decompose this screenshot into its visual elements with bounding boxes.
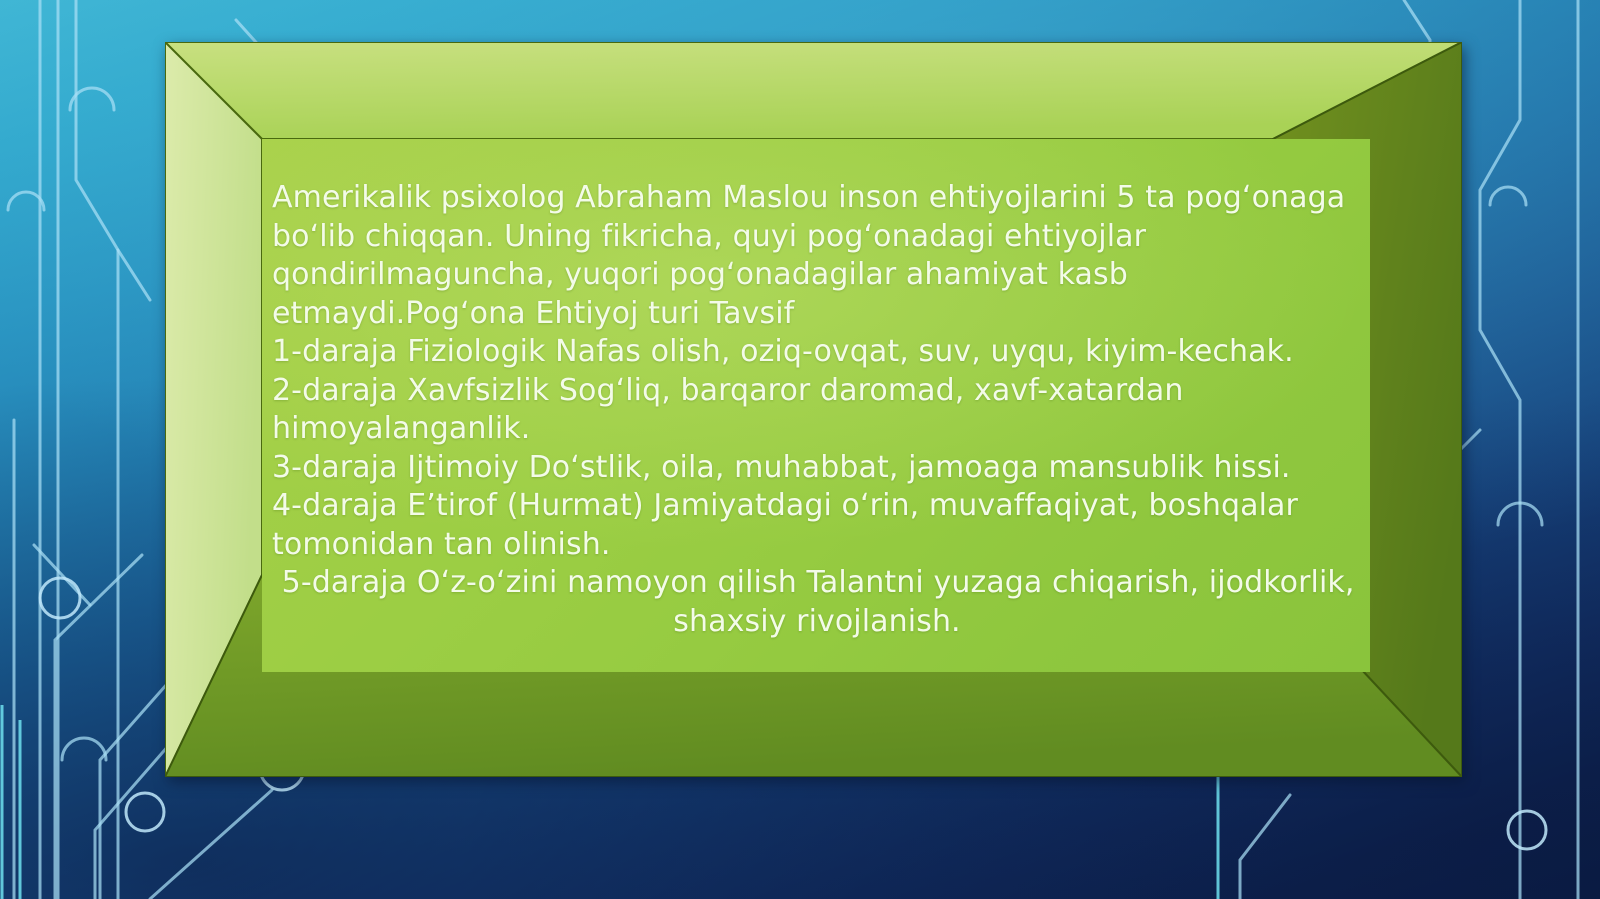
text-line-level-5: 5-daraja O‘z-o‘zini namoyon qilish Talan…	[272, 564, 1362, 603]
body-paragraph: Amerikalik psixolog Abraham Maslou inson…	[272, 179, 1362, 641]
text-line-level-3: 3-daraja Ijtimoiy Do‘stlik, oila, muhabb…	[272, 449, 1362, 488]
content-panel: Amerikalik psixolog Abraham Maslou inson…	[262, 139, 1370, 672]
text-line: Amerikalik psixolog Abraham Maslou inson…	[272, 179, 1362, 218]
slide-canvas: Amerikalik psixolog Abraham Maslou inson…	[0, 0, 1600, 899]
text-line-level-4: 4-daraja E’tirof (Hurmat) Jamiyatdagi o‘…	[272, 487, 1362, 526]
text-line-level-5-cont: shaxsiy rivojlanish.	[272, 603, 1362, 642]
text-line-level-4-cont: tomonidan tan olinish.	[272, 526, 1362, 565]
text-line: etmaydi.Pog‘ona Ehtiyoj turi Tavsif	[272, 295, 1362, 334]
text-line: bo‘lib chiqqan. Uning fikricha, quyi pog…	[272, 218, 1362, 257]
text-line-level-1: 1-daraja Fiziologik Nafas olish, oziq-ov…	[272, 333, 1362, 372]
text-line-level-2: 2-daraja Xavfsizlik Sog‘liq, barqaror da…	[272, 372, 1362, 411]
text-line: qondirilmaguncha, yuqori pog‘onadagilar …	[272, 256, 1362, 295]
slide-body-text: Amerikalik psixolog Abraham Maslou inson…	[270, 179, 1362, 641]
text-line-level-2-cont: himoyalanganlik.	[272, 410, 1362, 449]
